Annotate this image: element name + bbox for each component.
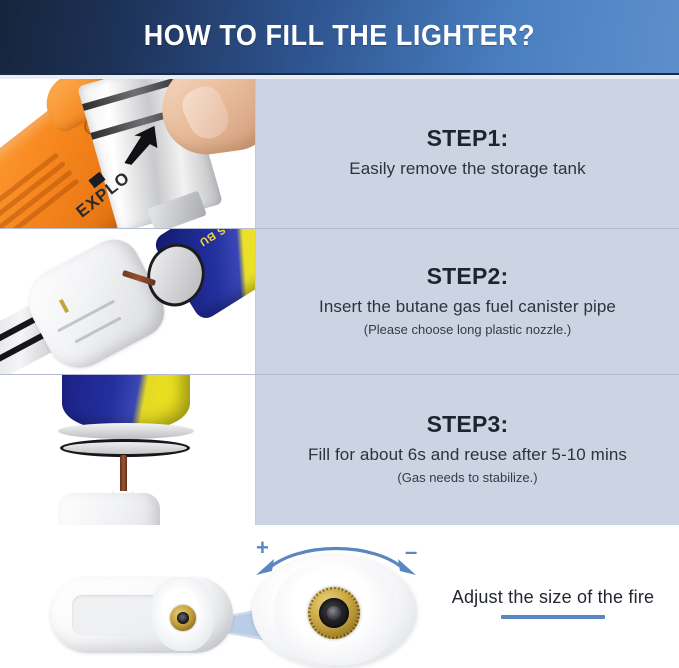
header-banner: HOW TO FILL THE LIGHTER? — [0, 0, 679, 73]
caption-block: Adjust the size of the fire — [444, 587, 662, 619]
step-title: STEP1: — [427, 125, 509, 152]
white-storage-tank — [58, 493, 160, 525]
canister-collar — [58, 423, 194, 439]
plus-label: + — [256, 537, 269, 559]
step-description: Easily remove the storage tank — [349, 159, 585, 179]
caption-underline — [501, 615, 605, 619]
step-row: FILLS BU STEP2: Insert the butane gas fu… — [0, 229, 679, 375]
step-description: Insert the butane gas fuel canister pipe — [319, 297, 616, 317]
step-text-cell: STEP3: Fill for about 6s and reuse after… — [256, 375, 679, 525]
step-text-cell: STEP1: Easily remove the storage tank — [256, 79, 679, 229]
adjust-fire-panel: + – Adjust the size of the fire — [0, 525, 679, 668]
step-description: Fill for about 6s and reuse after 5-10 m… — [308, 445, 627, 465]
step-title: STEP3: — [427, 411, 509, 438]
adjust-valve-magnified[interactable] — [308, 587, 360, 639]
step-note: (Gas needs to stabilize.) — [397, 470, 537, 485]
canister-insert-photo: FILLS BU — [0, 229, 256, 375]
step-title: STEP2: — [427, 263, 509, 290]
vertical-filling-photo — [0, 375, 256, 525]
adjust-valve[interactable] — [170, 605, 196, 631]
steps-section: EXPLO STEP1: Easily remove the storage t… — [0, 79, 679, 525]
caption-text: Adjust the size of the fire — [444, 587, 662, 608]
orange-torch-lighter-photo: EXPLO — [0, 79, 256, 229]
step-text-cell: STEP2: Insert the butane gas fuel canist… — [256, 229, 679, 375]
butane-canister — [62, 375, 190, 429]
step-row: EXPLO STEP1: Easily remove the storage t… — [0, 79, 679, 229]
valve-center-hole — [319, 598, 349, 628]
infographic-page: HOW TO FILL THE LIGHTER? EXPLO — [0, 0, 679, 668]
step-row: STEP3: Fill for about 6s and reuse after… — [0, 375, 679, 525]
page-title: HOW TO FILL THE LIGHTER? — [144, 20, 535, 53]
step-note: (Please choose long plastic nozzle.) — [364, 322, 571, 337]
minus-label: – — [405, 541, 417, 563]
rotation-arrow-icon — [248, 537, 424, 577]
